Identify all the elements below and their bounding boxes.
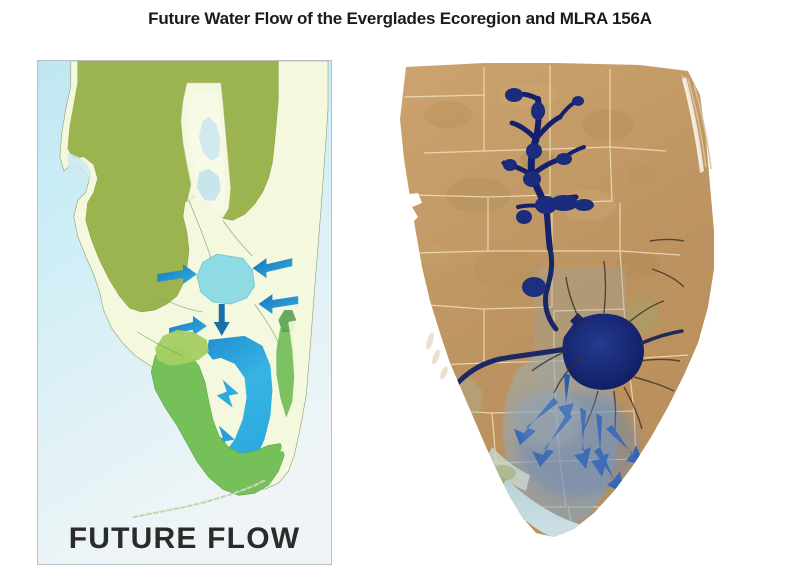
mlra-satellite-map-graphic — [388, 55, 728, 575]
lake-istokpoga — [522, 277, 546, 297]
everglades-ecoregion-map-panel: FUTURE FLOW — [37, 60, 332, 565]
ecoregion-map-graphic — [38, 61, 331, 564]
mlra-156a-map-panel — [388, 55, 728, 575]
page-title: Future Water Flow of the Everglades Ecor… — [0, 9, 800, 29]
future-flow-caption: FUTURE FLOW — [38, 522, 331, 556]
